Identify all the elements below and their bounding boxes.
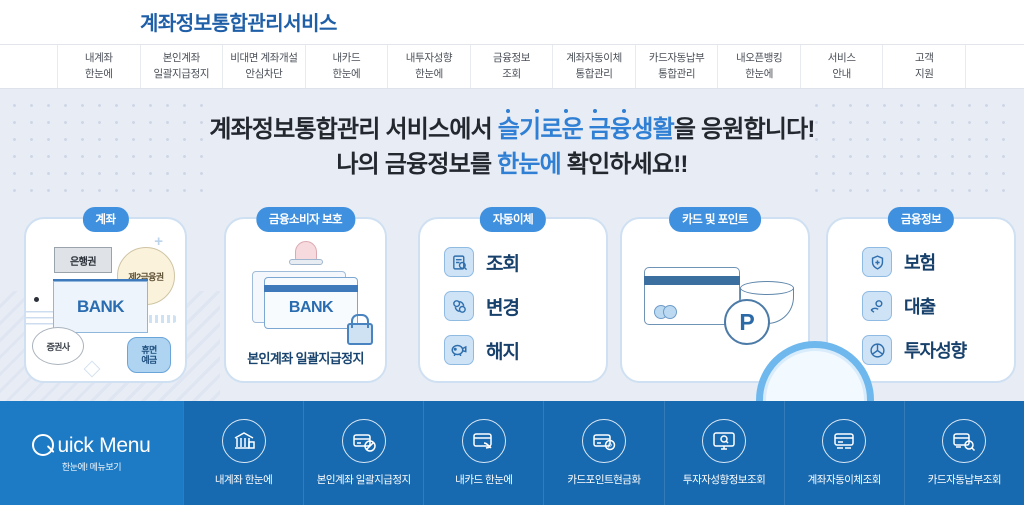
nav-item-line2: 통합관리 [658,67,695,82]
dormant-line1: 휴면 [141,345,156,355]
nav-item-line1: 계좌자동이체 [566,51,622,66]
quick-menu-subtitle: 한눈에! 메뉴보기 [62,460,121,473]
quick-menu-item-label: 카드포인트현금화 [567,472,640,487]
card-logo-circle-2 [663,305,677,319]
feature-label-change: 변경 [486,293,519,320]
magnifying-glass-illustration [756,341,874,401]
nav-item-10[interactable]: 고객지원 [883,45,966,88]
nav-item-line1: 내투자성향 [406,51,452,66]
hero-line2-pre: 나의 금융정보를 [336,151,497,178]
site-logo[interactable]: 계좌정보통합관리서비스 [140,7,337,36]
nav-item-line1: 서비스 [828,51,856,66]
plus-decoration-icon: + [154,233,163,250]
point-badge-icon: P [724,299,770,345]
quick-menu-item-2[interactable]: 내카드 한눈에 [423,401,543,505]
feature-label-inquiry: 조회 [486,249,519,276]
line-decoration [26,311,56,325]
nav-item-2[interactable]: 비대면 계좌개설안심차단 [223,45,306,88]
nav-item-line2: 일괄지급정지 [154,67,210,82]
quick-menu-item-0[interactable]: 내계좌 한눈에 [183,401,303,505]
page-root: 계좌정보통합관리서비스 내계좌한눈에본인계좌일괄지급정지비대면 계좌개설안심차단… [0,0,1024,512]
site-header: 계좌정보통합관리서비스 [0,0,1024,44]
nav-item-line1: 비대면 계좌개설 [230,51,297,66]
hand-won-icon [862,291,892,321]
quick-menu-item-label: 내카드 한눈에 [455,472,512,487]
nav-item-9[interactable]: 서비스안내 [801,45,884,88]
bottom-strip [0,505,1024,512]
feature-label-loan: 대출 [904,293,935,319]
quick-menu-title-row: uick Menu [32,434,150,458]
exchange-won-icon [444,291,474,321]
quick-menu-brand[interactable]: uick Menu 한눈에! 메뉴보기 [0,401,183,505]
card-hand-icon [462,419,506,463]
quick-menu-item-4[interactable]: 투자자성향정보조회 [664,401,784,505]
hero-line1-post: 을 응원합니다! [674,116,815,143]
nav-item-line2: 통합관리 [576,67,613,82]
siren-lamp-icon [295,241,317,261]
card-caption-payment-suspension: 본인계좌 일괄지급정지 [226,348,385,367]
feature-label-investment-profile: 투자성향 [904,337,966,363]
card-illustration-accounts: + 은행권 제2금융권 BANK 증권사 휴면 예금 [26,219,185,381]
nav-item-line1: 고객 [915,51,934,66]
dormant-line2: 예금 [141,355,156,365]
feature-row-change: 변경 [444,291,519,321]
nav-item-line2: 안내 [832,67,851,82]
quick-menu-item-label: 내계좌 한눈에 [215,472,272,487]
svg-text:P: P [608,444,612,450]
search-icon [32,434,56,458]
lock-icon [347,323,373,345]
speech-bubble-bank: 은행권 [54,247,112,273]
feature-card-consumer-protection[interactable]: 금융소비자 보호 BANK 본인계좌 일괄지급정지 [224,217,387,383]
feature-row-insurance: 보험 [862,247,935,277]
feature-row-investment-profile: 투자성향 [862,335,966,365]
speech-bubble-securities: 증권사 [32,327,84,365]
quick-menu-title: uick Menu [57,434,150,458]
quick-menu-item-5[interactable]: 계좌자동이체조회 [784,401,904,505]
nav-item-line1: 본인계좌 [163,51,200,66]
nav-item-line2: 지원 [915,67,934,82]
magnifier-lens [756,341,874,401]
bank-building-icon [222,419,266,463]
card-illustration-auto-transfer: 조회 변경 [420,219,606,381]
transfer-card-icon [822,419,866,463]
main-navigation: 내계좌한눈에본인계좌일괄지급정지비대면 계좌개설안심차단내카드한눈에내투자성향한… [0,44,1024,89]
nav-item-6[interactable]: 계좌자동이체통합관리 [553,45,636,88]
hero-headline-line2: 나의 금융정보를 한눈에 확인하세요!! [0,148,1024,183]
speech-bubble-dormant: 휴면 예금 [127,337,171,373]
coin-stack-top [740,281,794,295]
nav-item-line2: 한눈에 [415,67,443,82]
feature-row-inquiry: 조회 [444,247,519,277]
nav-item-line1: 카드자동납부 [649,51,705,66]
piggy-bank-icon [444,335,474,365]
feature-card-accounts[interactable]: 계좌 + 은행권 제2금융권 BANK 증권사 휴면 예금 [24,217,187,383]
card-magnetic-stripe [644,276,740,285]
card-block-icon [342,419,386,463]
hero-headline-line1: 계좌정보통합관리 서비스에서 슬기로운 금융생활을 응원합니다! [0,113,1024,148]
feature-card-auto-transfer[interactable]: 자동이체 조회 [418,217,608,383]
card-magnetic-stripe [264,285,358,292]
document-search-icon [444,247,474,277]
nav-left-spacer [0,45,58,88]
quick-menu-item-1[interactable]: 본인계좌 일괄지급정지 [303,401,423,505]
hero-banner: 계좌정보통합관리 서비스에서 슬기로운 금융생활을 응원합니다! 나의 금융정보… [0,89,1024,401]
quick-menu-bar: uick Menu 한눈에! 메뉴보기 내계좌 한눈에본인계좌 일괄지급정지내카… [0,401,1024,505]
nav-item-line1: 내오픈뱅킹 [736,51,782,66]
nav-item-line1: 내카드 [333,51,361,66]
nav-item-list: 내계좌한눈에본인계좌일괄지급정지비대면 계좌개설안심차단내카드한눈에내투자성향한… [58,45,966,88]
nav-item-0[interactable]: 내계좌한눈에 [58,45,141,88]
hero-line1-pre: 계좌정보통합관리 서비스에서 [209,116,497,143]
hero-headline: 계좌정보통합관리 서비스에서 슬기로운 금융생활을 응원합니다! 나의 금융정보… [0,113,1024,183]
quick-menu-item-6[interactable]: 카드자동납부조회 [904,401,1024,505]
nav-item-3[interactable]: 내카드한눈에 [306,45,389,88]
shield-plus-icon [862,247,892,277]
quick-menu-item-label: 투자자성향정보조회 [683,472,765,487]
bank-label: BANK [53,297,148,317]
nav-item-1[interactable]: 본인계좌일괄지급정지 [141,45,224,88]
nav-item-8[interactable]: 내오픈뱅킹한눈에 [718,45,801,88]
hero-line2-post: 확인하세요!! [561,151,688,178]
feature-row-cancel: 해지 [444,335,519,365]
feature-label-insurance: 보험 [904,249,935,275]
wave-decoration [143,315,177,323]
nav-item-line2: 조회 [502,67,521,82]
nav-item-5[interactable]: 금융정보조회 [471,45,554,88]
card-point-icon: P [582,419,626,463]
nav-item-7[interactable]: 카드자동납부통합관리 [636,45,719,88]
nav-item-line2: 한눈에 [85,67,113,82]
dot-decoration [34,297,39,302]
bank-label: BANK [264,299,358,317]
feature-row-loan: 대출 [862,291,935,321]
hero-line1-highlight: 슬기로운 금융생활 [498,116,674,143]
nav-item-4[interactable]: 내투자성향한눈에 [388,45,471,88]
nav-right-spacer [966,45,1024,88]
monitor-search-icon [702,419,746,463]
nav-item-line1: 내계좌 [85,51,113,66]
nav-item-line2: 한눈에 [745,67,773,82]
quick-menu-item-3[interactable]: P카드포인트현금화 [543,401,663,505]
quick-menu-item-label: 카드자동납부조회 [928,472,1001,487]
diamond-decoration [84,361,101,378]
nav-item-line2: 한눈에 [333,67,361,82]
card-illustration-consumer-protection: BANK 본인계좌 일괄지급정지 [226,219,385,381]
hero-line2-highlight: 한눈에 [497,151,561,178]
nav-item-line1: 금융정보 [493,51,530,66]
quick-menu-item-label: 계좌자동이체조회 [808,472,881,487]
card-search-icon [942,419,986,463]
nav-item-line2: 안심차단 [245,67,282,82]
feature-label-cancel: 해지 [486,337,519,364]
siren-base-decoration [289,259,323,265]
highlight-dots-decoration [506,109,626,117]
quick-menu-item-list: 내계좌 한눈에본인계좌 일괄지급정지내카드 한눈에P카드포인트현금화투자자성향정… [183,401,1024,505]
quick-menu-item-label: 본인계좌 일괄지급정지 [317,472,411,487]
